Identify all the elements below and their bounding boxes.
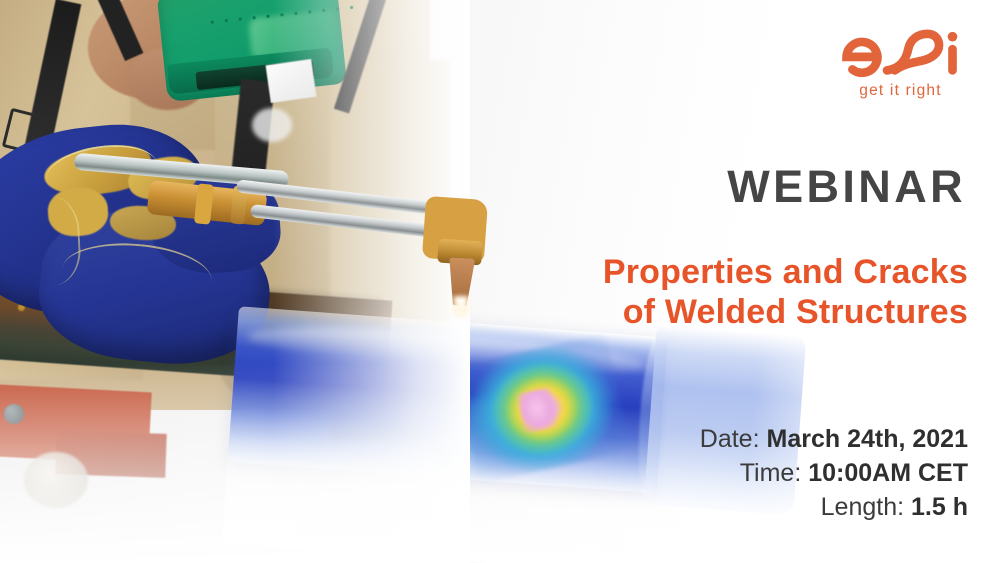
detail-date: Date: March 24th, 2021 (700, 422, 968, 456)
torch-flame (452, 296, 470, 318)
title-line-2: of Welded Structures (603, 292, 968, 332)
detail-length: Length: 1.5 h (700, 490, 968, 524)
webinar-kicker: WEBINAR (727, 164, 966, 209)
length-value: 1.5 h (911, 493, 968, 521)
webinar-banner: get it right WEBINAR Properties and Crac… (0, 0, 1000, 563)
time-value: 10:00AM CET (808, 459, 968, 487)
date-value: March 24th, 2021 (767, 425, 969, 453)
esi-logo[interactable]: get it right (833, 28, 968, 100)
length-label: Length: (821, 493, 904, 521)
detail-time: Time: 10:00AM CET (700, 456, 968, 490)
webinar-title: Properties and Cracks of Welded Structur… (603, 252, 968, 332)
title-line-1: Properties and Cracks (603, 252, 968, 292)
esi-logo-mark (833, 28, 968, 80)
esi-tagline: get it right (833, 82, 968, 100)
event-details: Date: March 24th, 2021 Time: 10:00AM CET… (700, 422, 968, 524)
esi-logo-dot (948, 32, 958, 42)
date-label: Date: (700, 425, 760, 453)
time-label: Time: (740, 459, 802, 487)
